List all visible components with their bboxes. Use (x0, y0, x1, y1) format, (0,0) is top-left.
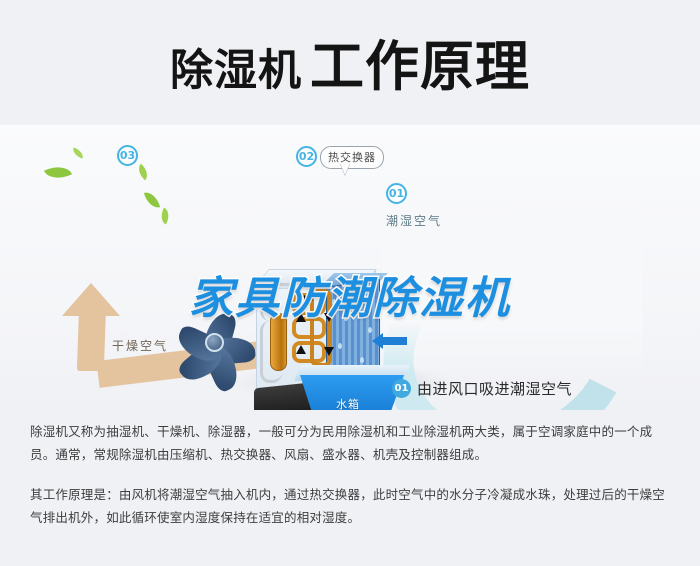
heat-exchanger-callout: 热交换器 (320, 146, 384, 169)
leaf-icon (44, 161, 72, 185)
overlay-headline: 家具防潮除湿机 (0, 262, 700, 326)
step-badge: 01 (392, 379, 411, 398)
leaf-icon (134, 164, 151, 181)
list-item: 01 由进风口吸进潮湿空气 (392, 378, 692, 399)
page-title-part2: 工作原理 (310, 35, 530, 98)
diagram-badge-03: 03 (117, 145, 138, 166)
step-list: 01 由进风口吸进潮湿空气 02 潮湿空气经过蒸发器冷凝成水珠 03 从上部出风… (392, 378, 692, 410)
fan-hub (205, 333, 224, 352)
water-droplet (338, 343, 342, 349)
intake-arrow (381, 337, 407, 345)
body-copy: 除湿机又称为抽湿机、干燥机、除湿器，一般可分为民用除湿机和工业除湿机两大类，属于… (30, 420, 675, 529)
page-title: 除湿机工作原理 (0, 22, 700, 101)
diagram-badge-01: 01 (386, 183, 407, 204)
dry-air-label: 干燥空气 (112, 337, 168, 354)
paragraph-1: 除湿机又称为抽湿机、干燥机、除湿器，一般可分为民用除湿机和工业除湿机两大类，属于… (30, 420, 675, 466)
water-droplet (360, 357, 364, 363)
paragraph-2: 其工作原理是：由风机将潮湿空气抽入机内，通过热交换器，此时空气中的水分子冷凝成水… (30, 483, 675, 529)
page-root: 除湿机工作原理 干燥空气 潮湿空气 (0, 0, 700, 566)
flow-arrow-down (324, 347, 334, 356)
step-label: 由进风口吸进潮湿空气 (417, 378, 572, 399)
flow-arrow-up (296, 345, 306, 354)
water-tank-label: 水箱 (336, 396, 360, 410)
refrigerant-pipe (260, 321, 282, 383)
diagram-badge-02: 02 (296, 146, 317, 167)
callout-tail (340, 163, 350, 175)
intake-arrowhead (372, 333, 383, 349)
leaf-icon (157, 207, 173, 224)
humid-air-label: 潮湿空气 (386, 212, 442, 229)
leaf-icon (144, 190, 160, 210)
page-title-part1: 除湿机 (170, 46, 302, 96)
leaf-icon (71, 147, 85, 158)
